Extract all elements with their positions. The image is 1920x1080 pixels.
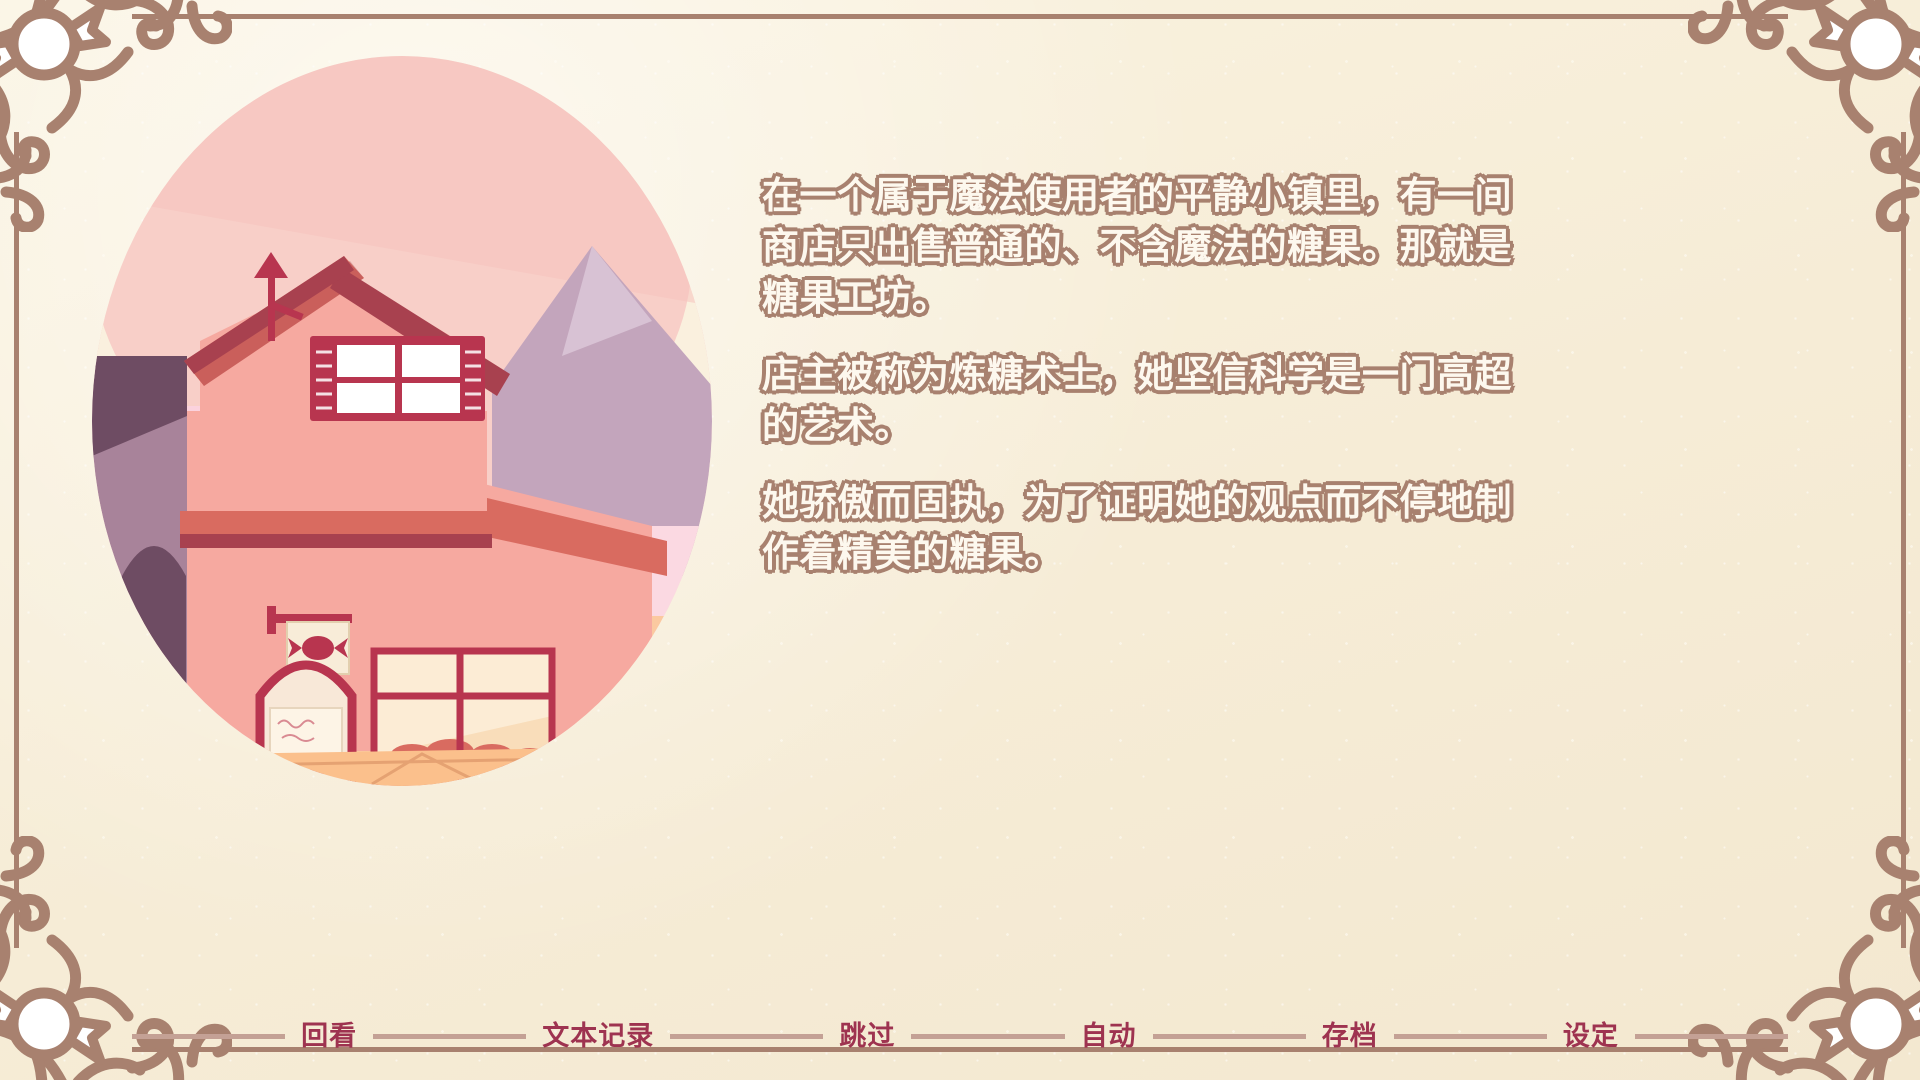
menu-rule — [373, 1034, 526, 1039]
frame-line-left — [14, 132, 19, 948]
menu-item-settings[interactable]: 设定 — [1547, 1023, 1635, 1050]
ornament-svg — [0, 0, 232, 232]
menu-item-save[interactable]: 存档 — [1306, 1023, 1394, 1050]
ornament-svg — [1688, 0, 1920, 232]
menu-rule — [670, 1034, 823, 1039]
dialogue-textbox[interactable]: 在一个属于魔法使用者的平静小镇里，有一间商店只出售普通的、不含魔法的糖果。那就是… — [762, 170, 1542, 579]
candy-swirl-ornament-top-right — [1688, 0, 1920, 232]
game-menu-bar: 回看 文本记录 跳过 自动 存档 设定 — [132, 1006, 1788, 1066]
game-scene: 在一个属于魔法使用者的平静小镇里，有一间商店只出售普通的、不含魔法的糖果。那就是… — [0, 0, 1920, 1080]
menu-rule — [1153, 1034, 1306, 1039]
menu-rule — [911, 1034, 1064, 1039]
menu-rule — [1635, 1034, 1788, 1039]
menu-rule — [1394, 1034, 1547, 1039]
menu-item-rollback[interactable]: 回看 — [285, 1023, 373, 1050]
candy-swirl-ornament-top-left — [0, 0, 232, 232]
dialogue-paragraph-2: 店主被称为炼糖术士，她坚信科学是一门高超的艺术。 — [762, 349, 1542, 451]
dialogue-paragraph-3: 她骄傲而固执，为了证明她的观点而不停地制作着精美的糖果。 — [762, 477, 1542, 579]
menu-item-skip[interactable]: 跳过 — [823, 1023, 911, 1050]
menu-item-auto[interactable]: 自动 — [1065, 1023, 1153, 1050]
frame-line-top — [132, 14, 1788, 19]
frame-line-right — [1901, 132, 1906, 948]
menu-rule — [132, 1034, 285, 1039]
dialogue-paragraph-1: 在一个属于魔法使用者的平静小镇里，有一间商店只出售普通的、不含魔法的糖果。那就是… — [762, 170, 1542, 323]
menu-item-history[interactable]: 文本记录 — [526, 1023, 670, 1050]
